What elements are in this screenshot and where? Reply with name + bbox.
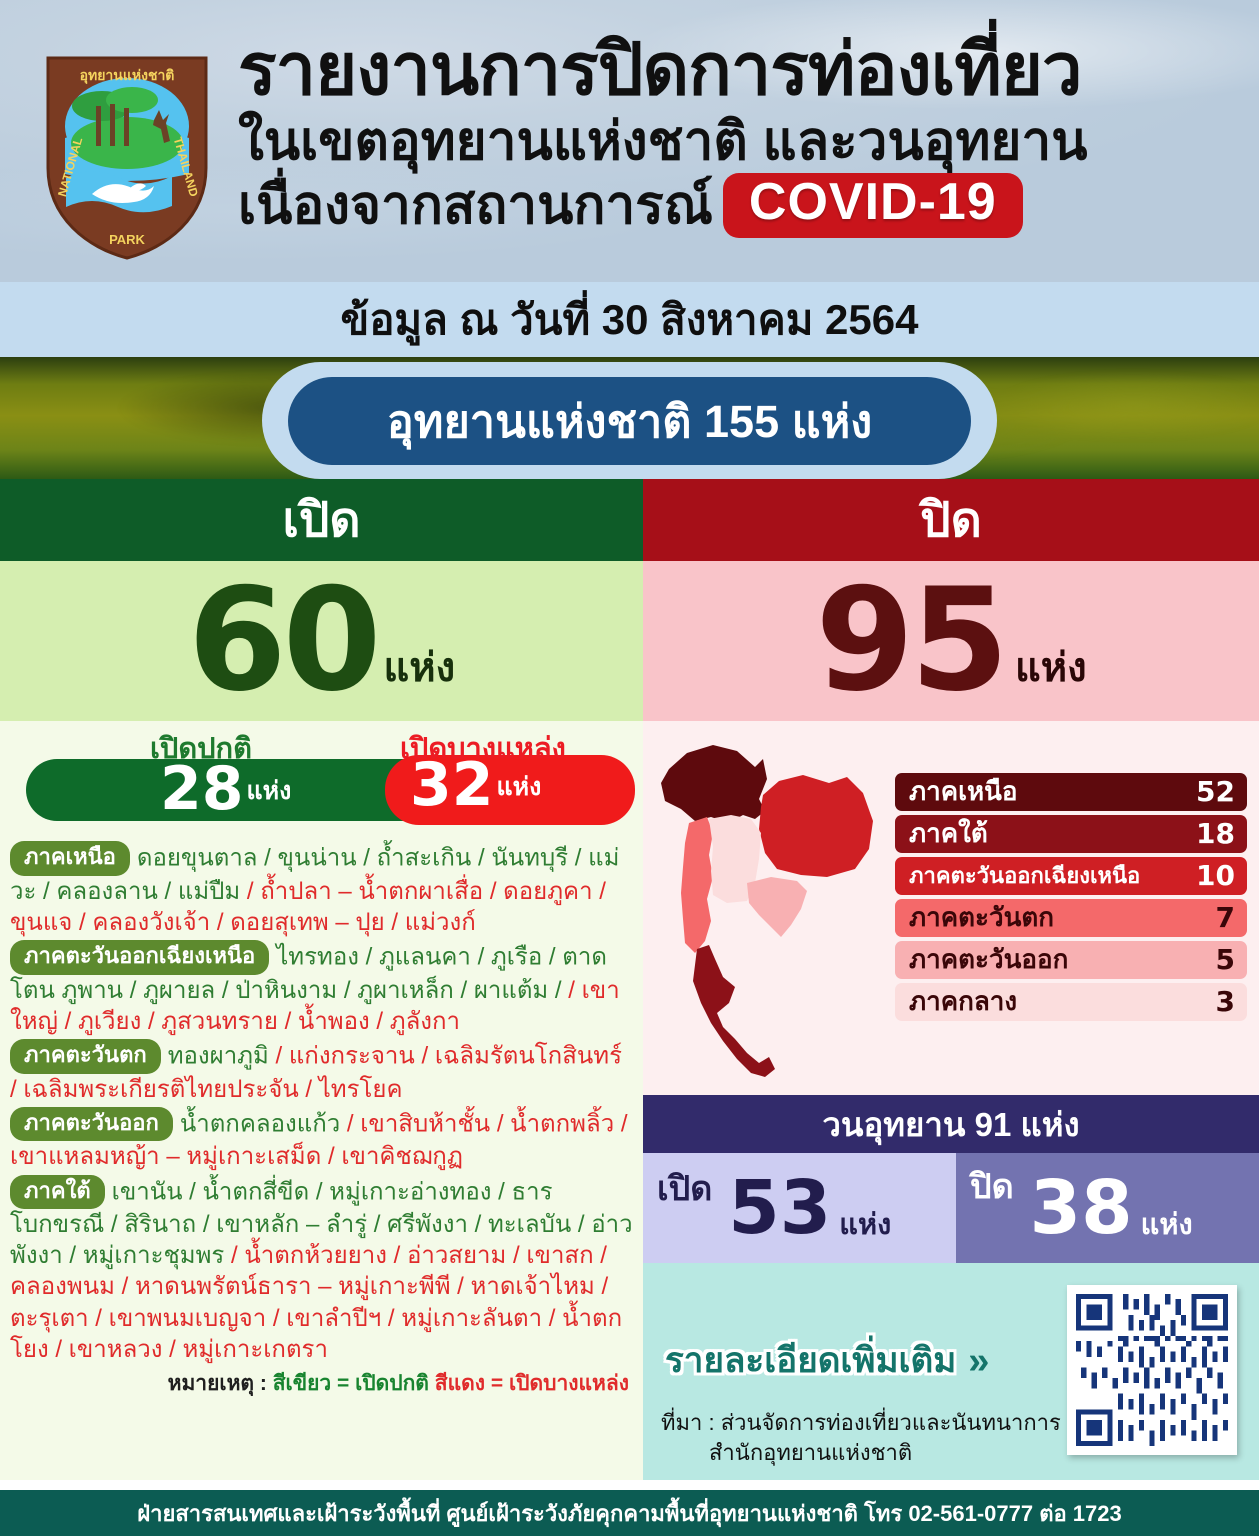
page-title-line2: ในเขตอุทยานแห่งชาติ และวนอุทยาน	[238, 112, 1238, 171]
chevron-right-icon: »	[968, 1342, 989, 1380]
closed-region-value: 18	[1196, 817, 1235, 850]
logo-bottom-text: PARK	[109, 232, 145, 247]
region-tag: ภาคเหนือ	[10, 841, 130, 876]
open-count-unit: แห่ง	[383, 635, 455, 699]
data-as-of-bar: ข้อมูล ณ วันที่ 30 สิงหาคม 2564	[0, 282, 1259, 357]
closed-region-name: ภาคตะวันออก	[909, 939, 1068, 980]
closed-count-value: 95	[815, 574, 1005, 709]
open-subcategory-bars: เปิดปกติ เปิดบางแหล่ง 28 แห่ง 32 แห่ง	[0, 721, 643, 839]
forest-park-closed-unit: แห่ง	[1141, 1201, 1193, 1247]
legend-note-red: สีแดง = เปิดบางแหล่ง	[435, 1372, 629, 1395]
closed-region-row: ภาคตะวันตก7	[895, 899, 1247, 937]
closed-region-row: ภาคใต้18	[895, 815, 1247, 853]
normal-open-value-group: 28 แห่ง	[160, 761, 291, 818]
closed-region-value: 7	[1216, 901, 1235, 934]
park-region-row: ภาคใต้เขานัน / น้ำตกสี่ขีด / หมู่เกาะอ่า…	[10, 1175, 633, 1366]
infographic-page: อุทยานแห่งชาติ NATIONAL THAILAND PARK รา…	[0, 0, 1259, 1536]
closed-region-value: 3	[1216, 985, 1235, 1018]
legend-note-green: สีเขียว = เปิดปกติ	[273, 1372, 429, 1395]
forest-park-open-unit: แห่ง	[839, 1201, 891, 1247]
park-region-row: ภาคเหนือดอยขุนตาล / ขุนน่าน / ถ้ำสะเกิน …	[10, 841, 633, 938]
closed-region-name: ภาคตะวันตก	[909, 897, 1054, 938]
source-credit: ที่มา : ส่วนจัดการท่องเที่ยวและนันทนาการ…	[661, 1408, 1061, 1467]
legend-note: หมายเหตุ : สีเขียว = เปิดปกติ สีแดง = เป…	[0, 1367, 643, 1400]
closed-region-row: ภาคตะวันออกเฉียงเหนือ10	[895, 857, 1247, 895]
park-region-row: ภาคตะวันออกเฉียงเหนือไทรทอง / ภูแลนคา / …	[10, 940, 633, 1037]
title-block: รายงานการปิดการท่องเที่ยว ในเขตอุทยานแห่…	[238, 34, 1238, 238]
park-region-row: ภาคตะวันตกทองผาภูมิ / แก่งกระจาน / เฉลิม…	[10, 1039, 633, 1105]
closed-region-value: 52	[1196, 775, 1235, 808]
data-as-of-text: ข้อมูล ณ วันที่ 30 สิงหาคม 2564	[341, 287, 919, 353]
national-park-thailand-logo: อุทยานแห่งชาติ NATIONAL THAILAND PARK	[36, 48, 218, 263]
forest-park-closed-label: ปิด	[970, 1159, 1014, 1213]
forest-park-title: วนอุทยาน 91 แห่ง	[822, 1098, 1079, 1151]
closed-region-name: ภาคใต้	[909, 813, 988, 854]
national-park-total-pill: อุทยานแห่งชาติ 155 แห่ง	[262, 362, 997, 479]
map-region-south	[693, 945, 775, 1077]
open-count-block: 60 แห่ง	[0, 561, 643, 721]
qr-code-icon	[1076, 1294, 1228, 1446]
partial-open-unit: แห่ง	[497, 767, 542, 807]
qr-code[interactable]	[1067, 1285, 1237, 1455]
forest-park-open-value: 53	[728, 1171, 831, 1245]
forest-park-closed-value: 38	[1030, 1171, 1133, 1245]
more-info-label: รายละเอียดเพิ่มเติม	[665, 1333, 956, 1388]
forest-park-open-block: เปิด 53 แห่ง	[643, 1153, 956, 1263]
closed-count-unit: แห่ง	[1015, 635, 1087, 699]
map-region-north	[661, 745, 767, 823]
footer-bar: ฝ่ายสารสนเทศและเฝ้าระวังพื้นที่ ศูนย์เฝ้…	[0, 1490, 1259, 1536]
region-tag: ภาคใต้	[10, 1175, 105, 1210]
closed-region-value: 10	[1196, 859, 1235, 892]
closed-count-block: 95 แห่ง	[643, 561, 1259, 721]
closed-region-name: ภาคเหนือ	[909, 771, 1018, 812]
covid-badge: COVID-19	[723, 173, 1023, 238]
forest-park-closed-block: ปิด 38 แห่ง	[956, 1153, 1259, 1263]
closed-header-label: ปิด	[920, 482, 982, 558]
more-info-link[interactable]: รายละเอียดเพิ่มเติม »	[665, 1333, 989, 1388]
thailand-region-map	[651, 737, 901, 1082]
closed-region-value: 5	[1216, 943, 1235, 976]
source-line1: ที่มา : ส่วนจัดการท่องเที่ยวและนันทนาการ	[661, 1408, 1061, 1438]
source-line2: สำนักอุทยานแห่งชาติ	[661, 1438, 1061, 1468]
footer-text: ฝ่ายสารสนเทศและเฝ้าระวังพื้นที่ ศูนย์เฝ้…	[137, 1496, 1122, 1531]
closed-region-row: ภาคเหนือ52	[895, 773, 1247, 811]
park-name-lists: ภาคเหนือดอยขุนตาล / ขุนน่าน / ถ้ำสะเกิน …	[0, 839, 643, 1365]
page-title-line3: เนื่องจากสถานการณ์	[238, 176, 713, 235]
closed-region-row: ภาคตะวันออก5	[895, 941, 1247, 979]
region-tag: ภาคตะวันออก	[10, 1107, 173, 1142]
open-parks-panel: เปิดปกติ เปิดบางแหล่ง 28 แห่ง 32 แห่ง ภา…	[0, 721, 643, 1480]
closed-region-row: ภาคกลาง3	[895, 983, 1247, 1021]
map-region-west	[681, 817, 713, 953]
header-banner: อุทยานแห่งชาติ NATIONAL THAILAND PARK รา…	[0, 0, 1259, 282]
open-header-label: เปิด	[282, 482, 360, 558]
park-region-row: ภาคตะวันออกน้ำตกคลองแก้ว / เขาสิบห้าชั้น…	[10, 1107, 633, 1173]
closed-by-region-panel: ภาคเหนือ52ภาคใต้18ภาคตะวันออกเฉียงเหนือ1…	[643, 721, 1259, 1095]
national-park-total-text: อุทยานแห่งชาติ 155 แห่ง	[387, 385, 873, 457]
closed-region-name: ภาคตะวันออกเฉียงเหนือ	[909, 858, 1140, 893]
map-region-northeast	[759, 775, 873, 877]
closed-by-region-table: ภาคเหนือ52ภาคใต้18ภาคตะวันออกเฉียงเหนือ1…	[895, 773, 1247, 1025]
logo-top-text: อุทยานแห่งชาติ	[80, 67, 175, 84]
partial-open-value: 32	[410, 757, 494, 814]
partial-open-value-group: 32 แห่ง	[410, 757, 541, 814]
closed-header: ปิด	[643, 479, 1259, 561]
region-park-names: เขานัน / น้ำตกสี่ขีด / หมู่เกาะอ่างทอง /…	[10, 1178, 633, 1363]
forest-park-open-label: เปิด	[657, 1161, 712, 1215]
normal-open-value: 28	[160, 761, 244, 818]
region-tag: ภาคตะวันตก	[10, 1039, 161, 1074]
more-info-section: รายละเอียดเพิ่มเติม » ที่มา : ส่วนจัดการ…	[643, 1263, 1259, 1480]
page-title-line1: รายงานการปิดการท่องเที่ยว	[238, 34, 1238, 106]
closed-region-name: ภาคกลาง	[909, 981, 1017, 1022]
region-tag: ภาคตะวันออกเฉียงเหนือ	[10, 940, 269, 975]
map-region-east	[747, 877, 807, 937]
forest-park-header: วนอุทยาน 91 แห่ง	[643, 1095, 1259, 1153]
normal-open-unit: แห่ง	[247, 771, 292, 811]
open-count-value: 60	[188, 574, 378, 709]
legend-note-prefix: หมายเหตุ :	[168, 1372, 273, 1395]
open-header: เปิด	[0, 479, 643, 561]
